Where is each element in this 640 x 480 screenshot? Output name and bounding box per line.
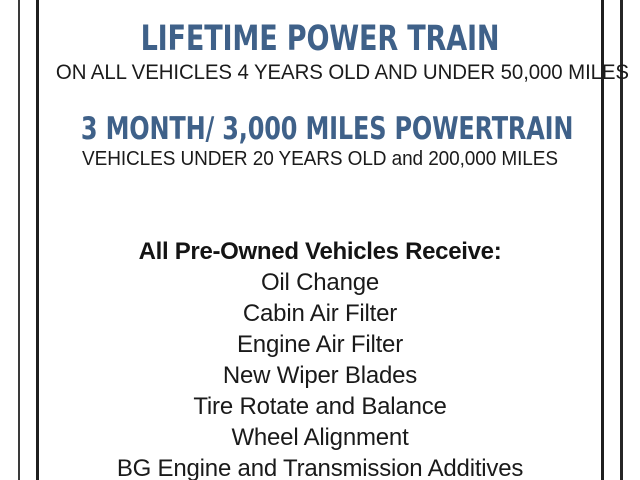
flyer-page: LIFETIME POWER TRAIN ON ALL VEHICLES 4 Y… — [0, 0, 640, 480]
three-month-powertrain-subline: VEHICLES UNDER 20 YEARS OLD and 200,000 … — [56, 148, 584, 171]
lifetime-powertrain-subline: ON ALL VEHICLES 4 YEARS OLD AND UNDER 50… — [56, 60, 584, 85]
service-item: Cabin Air Filter — [42, 298, 598, 329]
three-month-powertrain-headline: 3 MONTH/ 3,000 MILES POWERTRAIN — [81, 114, 559, 145]
service-item: Wheel Alignment — [42, 422, 598, 453]
service-item: Oil Change — [42, 267, 598, 298]
service-item: New Wiper Blades — [42, 360, 598, 391]
service-item: Engine Air Filter — [42, 329, 598, 360]
border-rule-left-outer — [18, 0, 20, 480]
content-column: LIFETIME POWER TRAIN ON ALL VEHICLES 4 Y… — [42, 0, 598, 480]
services-title: All Pre-Owned Vehicles Receive: — [42, 236, 598, 267]
service-item: BG Engine and Transmission Additives — [42, 453, 598, 480]
border-rule-left-inner — [36, 0, 39, 480]
lifetime-powertrain-headline: LIFETIME POWER TRAIN — [81, 22, 559, 57]
services-section: All Pre-Owned Vehicles Receive: Oil Chan… — [42, 236, 598, 480]
service-item: Tire Rotate and Balance — [42, 391, 598, 422]
